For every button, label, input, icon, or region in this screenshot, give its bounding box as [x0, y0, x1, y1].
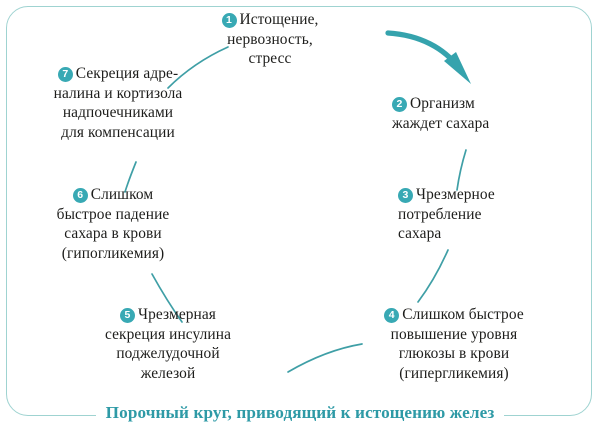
node-text: Организм жаждет сахара: [392, 95, 489, 132]
cycle-node-4: 4Слишком быстрое повышение уровня глюкоз…: [348, 305, 560, 383]
node-text: Истощение, нервозность, стресс: [227, 11, 318, 67]
cycle-diagram-page: 1Истощение, нервозность, стресс 2Организ…: [0, 0, 600, 433]
cycle-node-7: 7Секреция адре- налина и кортизола надпо…: [18, 64, 218, 142]
diagram-caption: Порочный круг, приводящий к истощению же…: [96, 403, 505, 423]
node-number-badge: 6: [73, 188, 88, 203]
node-number-badge: 4: [384, 308, 399, 323]
node-number-badge: 1: [222, 13, 237, 28]
node-number-badge: 5: [120, 308, 135, 323]
caption-container: Порочный круг, приводящий к истощению же…: [0, 403, 600, 423]
node-text: Секреция адре- налина и кортизола надпоч…: [54, 65, 183, 141]
node-number-badge: 7: [58, 67, 73, 82]
cycle-node-6: 6Слишком быстрое падение сахара в крови …: [22, 185, 204, 263]
cycle-node-2: 2Организм жаждет сахара: [392, 94, 572, 133]
cycle-node-3: 3Чрезмерное потребление сахара: [398, 185, 568, 244]
node-text: Слишком быстрое повышение уровня глюкозы…: [391, 306, 524, 382]
cycle-node-1: 1Истощение, нервозность, стресс: [180, 10, 360, 69]
node-number-badge: 2: [392, 97, 407, 112]
node-number-badge: 3: [398, 188, 413, 203]
cycle-node-5: 5Чрезмерная секреция инсулина поджелудоч…: [62, 305, 274, 383]
